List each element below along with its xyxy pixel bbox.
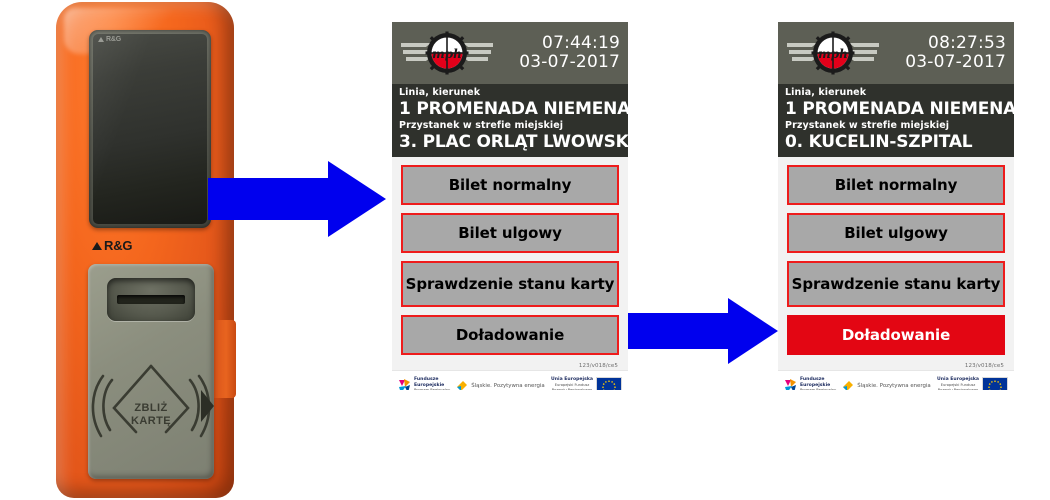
slaskie-text: Śląskie. Pozytywna energia — [857, 383, 931, 389]
card-slot — [107, 278, 195, 321]
svg-text:mph: mph — [432, 47, 462, 61]
svg-text:mph: mph — [818, 47, 848, 61]
slaskie-text: Śląskie. Pozytywna energia — [471, 383, 545, 389]
terminal-2-footer: Fundusze Europejskie Program Regionalny … — [778, 370, 1014, 390]
terminal-1-serial: 123/v018/ce5 — [392, 363, 628, 370]
card-reader-pad[interactable]: ZBLIŻ KARTĘ — [88, 264, 214, 479]
fundusze-europejskie-logo: Fundusze Europejskie Program Regionalny — [398, 377, 450, 390]
rg-logo-label: R&G — [104, 238, 132, 253]
device-screen[interactable] — [93, 34, 207, 224]
terminal-1-stop-value: 3. PLAC ORLĄT LWOWSKICH — [399, 132, 621, 153]
terminal-2-line-value: 1 PROMENADA NIEMENA — [785, 99, 1007, 120]
scene-root: R&G R&G ZBLIŻ KARTĘ — [0, 0, 1050, 500]
button-sprawdzenie-stanu-karty[interactable]: Sprawdzenie stanu karty — [401, 261, 619, 307]
terminal-2-clock: 08:27:53 03-07-2017 — [905, 34, 1006, 72]
mpk-winged-logo-icon: mph — [399, 31, 495, 75]
terminal-1-time: 07:44:19 — [519, 34, 620, 53]
unia-europejska-logo: Unia Europejska Europejski Fundusz Rozwo… — [551, 377, 622, 390]
slaskie-mark-icon — [456, 380, 468, 391]
terminal-2-line-label: Linia, kierunek — [785, 87, 1007, 99]
terminal-1-info: Linia, kierunek 1 PROMENADA NIEMENA Przy… — [392, 84, 628, 157]
validator-device: R&G R&G ZBLIŻ KARTĘ — [56, 2, 234, 498]
tap-card-label-line2: KARTĘ — [88, 415, 214, 428]
terminal-1-header: mph 07:44:19 03-07-2017 — [392, 22, 628, 84]
terminal-1-line-value: 1 PROMENADA NIEMENA — [399, 99, 621, 120]
fundusze-mark-icon — [398, 378, 411, 391]
button-bilet-ulgowy[interactable]: Bilet ulgowy — [787, 213, 1005, 253]
terminal-1-footer: Fundusze Europejskie Program Regionalny … — [392, 370, 628, 390]
tap-card-label-line1: ZBLIŻ — [88, 402, 214, 415]
ue-line3: Rozwoju Regionalnego — [937, 388, 979, 390]
slaskie-logo: Śląskie. Pozytywna energia — [842, 380, 931, 391]
rg-logo-screen-icon: R&G — [98, 36, 121, 43]
tap-card-label: ZBLIŻ KARTĘ — [88, 402, 214, 428]
terminal-2-serial: 123/v018/ce5 — [778, 363, 1014, 370]
terminal-2-time: 08:27:53 — [905, 34, 1006, 53]
terminal-screen-1: mph 07:44:19 03-07-2017 Linia, kierunek … — [392, 22, 628, 390]
fundusze-europejskie-logo: Fundusze Europejskie Program Regionalny — [784, 377, 836, 390]
terminal-2-info: Linia, kierunek 1 PROMENADA NIEMENA Przy… — [778, 84, 1014, 157]
slaskie-mark-icon — [842, 380, 854, 391]
fundusze-europejskie-text: Fundusze Europejskie Program Regionalny — [800, 377, 836, 390]
terminal-2-stop-label: Przystanek w strefie miejskiej — [785, 120, 1007, 132]
terminal-1-buttons: Bilet normalny Bilet ulgowy Sprawdzenie … — [392, 157, 628, 355]
ue-line3: Rozwoju Regionalnego — [551, 388, 593, 390]
button-bilet-ulgowy[interactable]: Bilet ulgowy — [401, 213, 619, 253]
eu-flag-icon — [982, 377, 1008, 390]
terminal-screen-2: mph 08:27:53 03-07-2017 Linia, kierunek … — [778, 22, 1014, 390]
fe-sub: Program Regionalny — [414, 388, 450, 390]
unia-europejska-logo: Unia Europejska Europejski Fundusz Rozwo… — [937, 377, 1008, 390]
terminal-2-stop-value: 0. KUCELIN-SZPITAL — [785, 132, 1007, 153]
triangle-icon — [98, 37, 104, 42]
device-side-tab — [214, 320, 236, 398]
button-doladowanie[interactable]: Doładowanie — [401, 315, 619, 355]
unia-europejska-text: Unia Europejska Europejski Fundusz Rozwo… — [937, 377, 979, 390]
terminal-2-header: mph 08:27:53 03-07-2017 — [778, 22, 1014, 84]
rg-logo-screen-label: R&G — [106, 36, 121, 43]
button-bilet-normalny[interactable]: Bilet normalny — [787, 165, 1005, 205]
slaskie-brand: Śląskie. — [857, 383, 878, 389]
terminal-2-buttons: Bilet normalny Bilet ulgowy Sprawdzenie … — [778, 157, 1014, 355]
button-bilet-normalny[interactable]: Bilet normalny — [401, 165, 619, 205]
device-screen-bezel — [89, 30, 211, 228]
terminal-1-line-label: Linia, kierunek — [399, 87, 621, 99]
terminal-1-stop-label: Przystanek w strefie miejskiej — [399, 120, 621, 132]
terminal-1-clock: 07:44:19 03-07-2017 — [519, 34, 620, 72]
fundusze-mark-icon — [784, 378, 797, 391]
terminal-1-date: 03-07-2017 — [519, 53, 620, 72]
arrow-screen1-to-screen2-icon — [628, 298, 778, 364]
ue-line1: Unia Europejska — [551, 377, 593, 383]
button-sprawdzenie-stanu-karty[interactable]: Sprawdzenie stanu karty — [787, 261, 1005, 307]
slaskie-tag: Pozytywna energia — [880, 383, 931, 389]
tap-card-icon — [88, 330, 214, 458]
slaskie-logo: Śląskie. Pozytywna energia — [456, 380, 545, 391]
eu-flag-icon — [596, 377, 622, 390]
ue-line1: Unia Europejska — [937, 377, 979, 383]
slaskie-tag: Pozytywna energia — [494, 383, 545, 389]
triangle-icon — [92, 242, 102, 250]
fundusze-europejskie-text: Fundusze Europejskie Program Regionalny — [414, 377, 450, 390]
arrow-device-to-screen1-icon — [208, 161, 386, 237]
rg-logo-icon: R&G — [92, 238, 132, 253]
button-doladowanie[interactable]: Doładowanie — [787, 315, 1005, 355]
mpk-winged-logo-icon: mph — [785, 31, 881, 75]
slaskie-brand: Śląskie. — [471, 383, 492, 389]
fe-sub: Program Regionalny — [800, 388, 836, 390]
terminal-2-date: 03-07-2017 — [905, 53, 1006, 72]
unia-europejska-text: Unia Europejska Europejski Fundusz Rozwo… — [551, 377, 593, 390]
